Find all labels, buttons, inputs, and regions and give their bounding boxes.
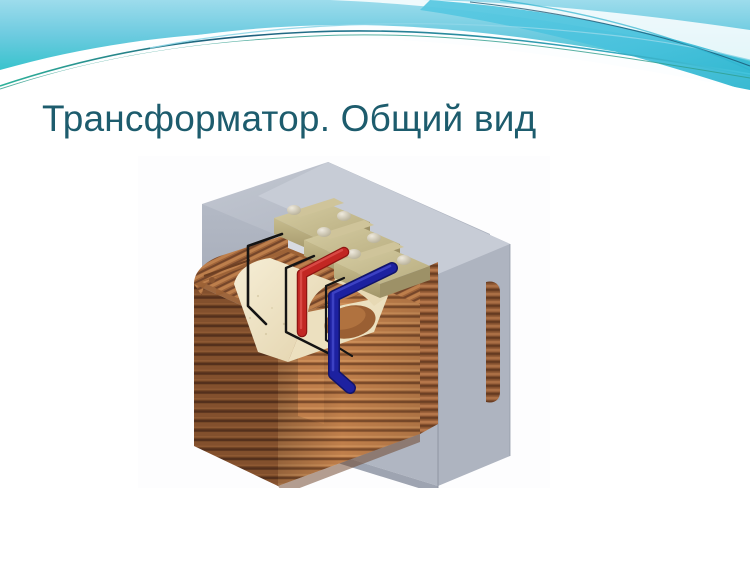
transformer-cutaway-illustration (138, 156, 550, 488)
terminal-screw[interactable] (317, 227, 331, 237)
banner-white-wave-main (0, 25, 750, 92)
banner-gradient-fill (0, 0, 750, 92)
banner-white-ribbon-upper (330, 0, 750, 60)
banner-accent-line-dark (0, 31, 750, 86)
terminal-screw[interactable] (337, 211, 351, 221)
slide: Трансформатор. Общий вид (0, 0, 750, 561)
illustration-stage (138, 156, 550, 488)
banner-accent-line-green (0, 35, 750, 89)
banner-white-swoosh-lower (0, 31, 750, 92)
banner-accent-line-light (150, 24, 750, 60)
wave-banner-graphic (0, 0, 750, 92)
terminal-screw[interactable] (367, 233, 381, 243)
banner-blue-ribbon-right (420, 0, 750, 92)
terminals-and-leads (138, 156, 550, 488)
terminal-screw[interactable] (397, 255, 411, 265)
banner-accent-line-navy (470, 2, 750, 66)
banner-bottom-blend (0, 38, 750, 92)
page-title: Трансформатор. Общий вид (42, 96, 702, 141)
terminal-screw[interactable] (287, 205, 301, 215)
terminal-screw[interactable] (347, 249, 361, 259)
banner-accent-line-cyan (500, 0, 750, 70)
decorative-wave-banner (0, 0, 750, 92)
